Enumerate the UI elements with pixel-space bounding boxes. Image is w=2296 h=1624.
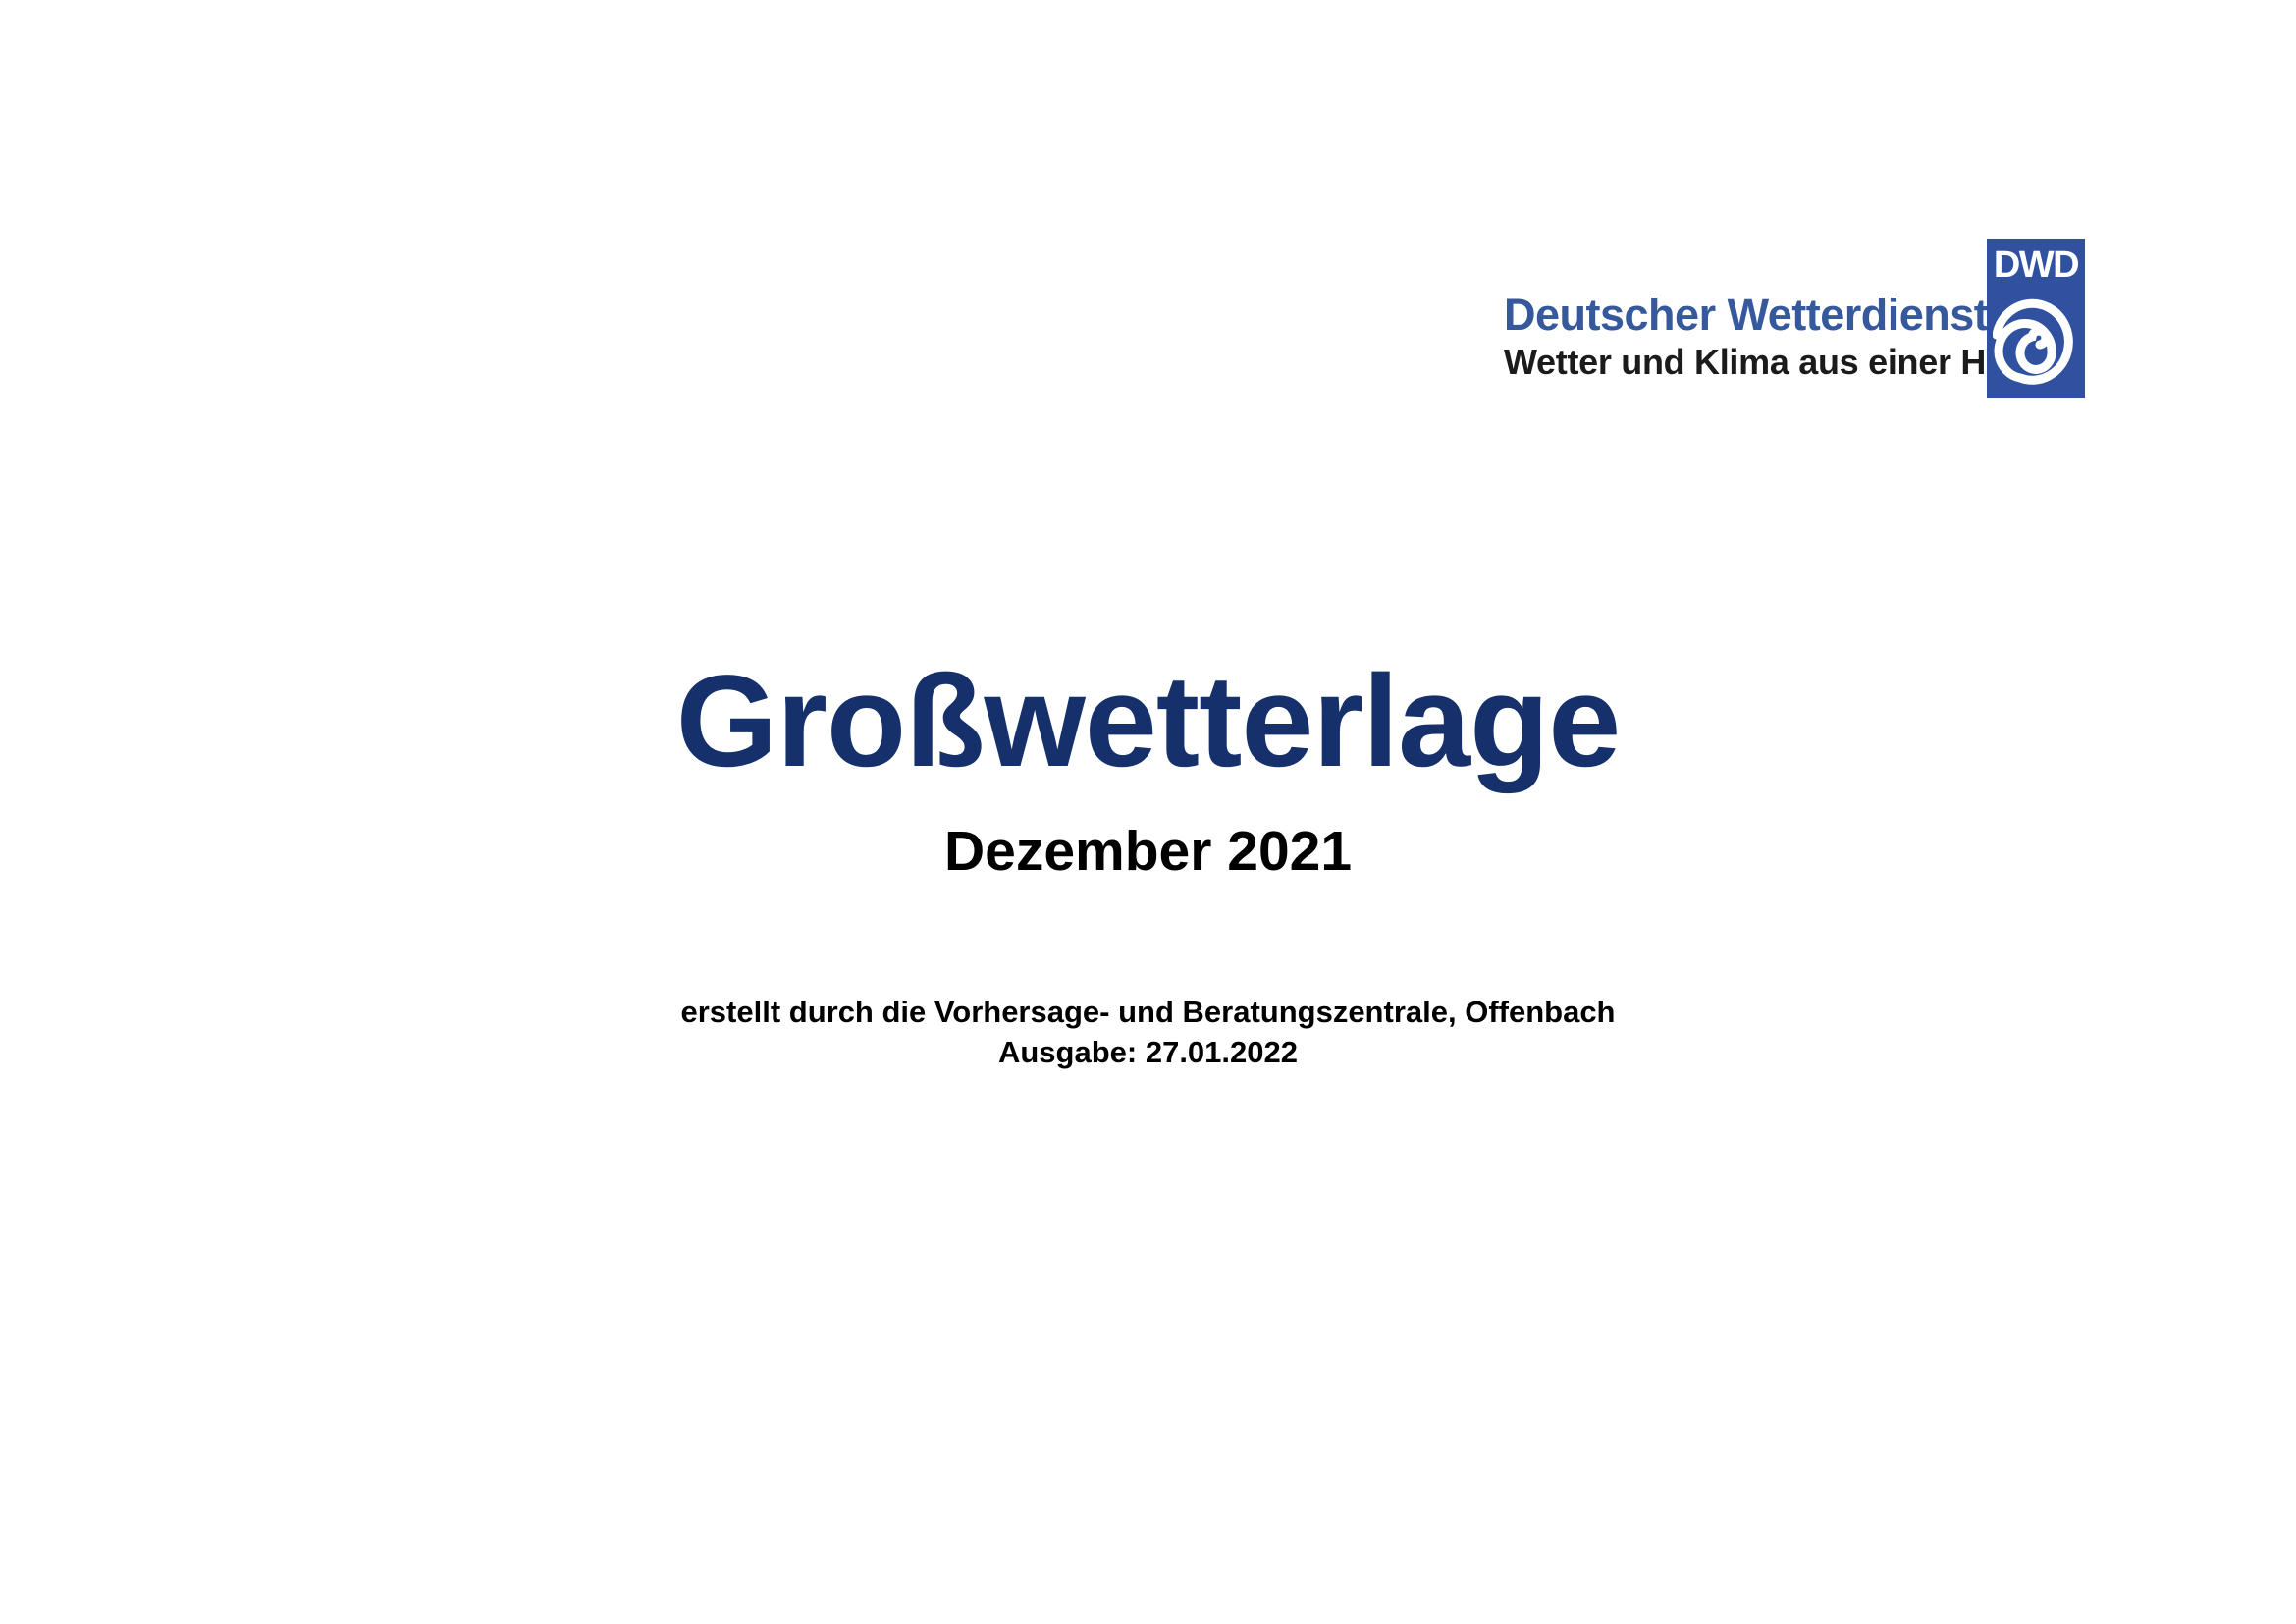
title-block: Großwetterlage Dezember 2021 xyxy=(0,648,2296,886)
page-title: Großwetterlage xyxy=(0,648,2296,795)
credit-author-line: erstellt durch die Vorhersage- und Berat… xyxy=(0,992,2296,1032)
credit-issue-date: Ausgabe: 27.01.2022 xyxy=(0,1032,2296,1072)
logo-tagline: Wetter und Klima aus einer Hand xyxy=(1504,341,1971,384)
logo-organization-name: Deutscher Wetterdienst xyxy=(1504,290,1971,341)
page-subtitle: Dezember 2021 xyxy=(0,817,2296,886)
logo-mark-label: DWD xyxy=(1987,244,2085,287)
dwd-logo: Deutscher Wetterdienst Wetter und Klima … xyxy=(1504,239,2105,401)
logo-wordmark: Deutscher Wetterdienst Wetter und Klima … xyxy=(1504,239,1987,384)
credits-block: erstellt durch die Vorhersage- und Berat… xyxy=(0,992,2296,1072)
cover-page: Deutscher Wetterdienst Wetter und Klima … xyxy=(0,0,2296,1624)
spiral-icon xyxy=(1993,290,2079,392)
dwd-logo-mark: DWD xyxy=(1987,239,2085,398)
